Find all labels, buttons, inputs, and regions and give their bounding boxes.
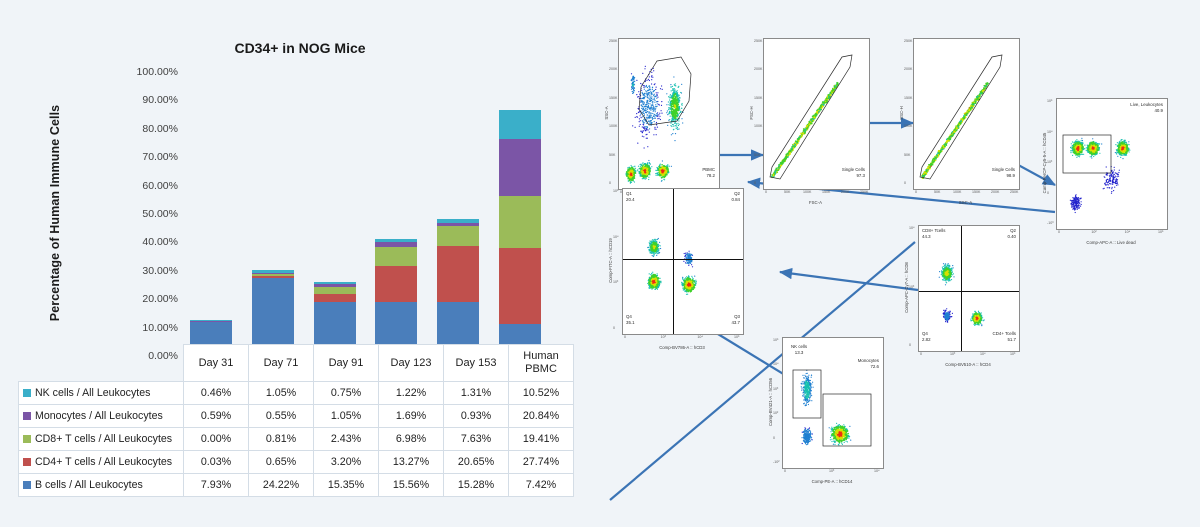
y-axis-ticks: 100.00%90.00%80.00%70.00%60.00%50.00%40.… [118, 66, 178, 350]
y-axis-label: Comp-FITC-A :: hCD19 [608, 188, 613, 333]
stacked-bar[interactable] [499, 110, 541, 344]
table-cell: 10.52% [509, 382, 574, 405]
x-tick-label: 0 [624, 335, 626, 339]
y-tick-label: 50K [904, 153, 910, 157]
table-cell: 7.63% [444, 428, 509, 451]
gate-percent: 43.7 [731, 320, 740, 325]
gate-label-single-cells: Single Cells97.3 [842, 167, 865, 179]
gate-name: Q2 [734, 191, 740, 196]
gate-label-single-cells: Single Cells98.9 [992, 167, 1015, 179]
x-tick-label: 0 [1058, 230, 1060, 234]
legend-row-header: NK cells / All Leukocytes [19, 382, 184, 405]
y-tick-label: 100K [754, 124, 762, 128]
y-axis-tick: 30.00% [142, 265, 178, 277]
bar-segment[interactable] [375, 247, 417, 266]
chart-and-table-panel: CD34+ in NOG Mice Percentage of Human Im… [0, 0, 600, 527]
legend-color-swatch [23, 389, 31, 397]
x-axis-label: Comp-APC-A :: Live dead [1056, 240, 1166, 245]
table-cell: 0.55% [249, 405, 314, 428]
gate-name: Live, Leukocytes [1130, 102, 1163, 107]
x-tick-label: 10⁵ [1158, 230, 1164, 234]
quadrant-label-bottom-right: Q343.7 [731, 314, 740, 326]
y-axis-label: FSC-H [749, 38, 754, 188]
y-tick-label: 10⁴ [1047, 130, 1053, 134]
x-tick-label: 10² [1091, 230, 1096, 234]
y-tick-label: 100K [609, 124, 617, 128]
legend-row-header: B cells / All Leukocytes [19, 474, 184, 497]
x-tick-label: 10³ [661, 335, 666, 339]
table-corner-cell [19, 345, 184, 382]
table-cell: 15.56% [379, 474, 444, 497]
page-title: CD34+ in NOG Mice [170, 40, 430, 56]
x-axis-label: Comp-PE-A :: hCD14 [782, 479, 882, 484]
gate-percent: 51.7 [1007, 337, 1016, 342]
x-axis-label: Comp-BV786-A :: hCD3 [622, 345, 742, 350]
table-column-header: Day 71 [249, 345, 314, 382]
table-cell: 19.41% [509, 428, 574, 451]
x-tick-label: 10⁴ [980, 352, 986, 356]
table-cell: 20.65% [444, 451, 509, 474]
table-row: CD8+ T cells / All Leukocytes0.00%0.81%2… [19, 428, 574, 451]
legend-color-swatch [23, 412, 31, 420]
data-table: Day 31Day 71Day 91Day 123Day 153Human PB… [18, 344, 574, 497]
flow-cytometry-panel: PBMC78.2FSC-ASSC-A050K100K150K200K250K25… [600, 0, 1200, 527]
x-tick-label: 0 [784, 469, 786, 473]
table-cell: 0.03% [184, 451, 249, 474]
y-axis-tick: 90.00% [142, 94, 178, 106]
bar-segment[interactable] [375, 302, 417, 344]
bar-segment[interactable] [375, 266, 417, 302]
y-axis-tick: 40.00% [142, 236, 178, 248]
bar-group[interactable] [427, 219, 489, 344]
table-cell: 20.84% [509, 405, 574, 428]
y-axis-tick: 100.00% [137, 66, 178, 78]
y-axis-label: SSC-A [604, 38, 609, 188]
y-tick-label: 10³ [613, 280, 618, 284]
bar-segment[interactable] [437, 246, 479, 302]
flow-dot-cloud [1057, 99, 1167, 229]
gate-percent: 78.2 [706, 173, 715, 178]
x-tick-label: 0 [765, 190, 767, 194]
y-tick-label: 10⁵ [613, 189, 619, 193]
bar-segment[interactable] [499, 324, 541, 344]
bar-segment[interactable] [499, 248, 541, 323]
table-cell: 0.00% [184, 428, 249, 451]
x-tick-label: 250K [860, 190, 868, 194]
x-tick-label: 100K [953, 190, 961, 194]
gate-name: Q1 [626, 191, 632, 196]
quadrant-label-top-left: CD8+ Tcells44.3 [922, 228, 945, 240]
bar-segment[interactable] [252, 278, 294, 344]
gate-name: Q4 [626, 314, 632, 319]
table-row: CD4+ T cells / All Leukocytes0.03%0.65%3… [19, 451, 574, 474]
quadrant-label-bottom-left: Q42.82 [922, 331, 931, 343]
bar-group[interactable] [489, 110, 551, 344]
table-cell: 2.43% [314, 428, 379, 451]
y-tick-label: 10⁴ [773, 362, 779, 366]
y-tick-label: 150K [754, 96, 762, 100]
gate-percent: 20.4 [626, 197, 635, 202]
quadrant-label-top-right: Q20.84 [731, 191, 740, 203]
x-axis-label: Comp-BV510-A :: hCD4 [918, 362, 1018, 367]
table-cell: 24.22% [249, 474, 314, 497]
y-tick-label: 0 [754, 181, 756, 185]
y-tick-label: 10³ [1047, 160, 1052, 164]
y-tick-label: 0 [609, 181, 611, 185]
arrow-cd4cd8-to-cd3 [780, 272, 918, 290]
y-tick-label: 10⁴ [613, 235, 619, 239]
y-tick-label: 10⁴ [909, 226, 915, 230]
y-tick-label: 0 [909, 343, 911, 347]
x-axis-label: SSC-A [913, 200, 1018, 205]
table-column-header: Day 123 [379, 345, 444, 382]
x-tick-label: 150K [822, 190, 830, 194]
gate-name: Q3 [734, 314, 740, 319]
x-tick-label: 100K [803, 190, 811, 194]
gate-label-live-leukocytes: Live, Leukocytes40.9 [1130, 102, 1163, 114]
table-cell: 15.28% [444, 474, 509, 497]
bar-segment[interactable] [499, 196, 541, 249]
table-cell: 0.81% [249, 428, 314, 451]
gate-name: Q4 [922, 331, 928, 336]
y-axis-title-label: Percentage of Human Immune Cells [48, 88, 62, 338]
gate-percent: 40.9 [1154, 108, 1163, 113]
bar-group[interactable] [242, 270, 304, 344]
table-cell: 6.98% [379, 428, 444, 451]
x-tick-label: 200K [841, 190, 849, 194]
table-column-header: Day 31 [184, 345, 249, 382]
stacked-bar[interactable] [375, 239, 417, 344]
y-axis-tick: 10.00% [142, 322, 178, 334]
bar-segment[interactable] [499, 139, 541, 196]
y-tick-label: -10³ [1047, 221, 1053, 225]
gate-label-pbmc: PBMC78.2 [702, 167, 715, 179]
stacked-bar[interactable] [190, 320, 232, 344]
quadrant-vertical-line [961, 226, 962, 351]
quadrant-label-bottom-right: CD4+ Tcells51.7 [993, 331, 1016, 343]
y-tick-label: 150K [904, 96, 912, 100]
stacked-bar[interactable] [252, 270, 294, 344]
table-cell: 1.05% [249, 382, 314, 405]
table-column-header: Day 153 [444, 345, 509, 382]
gate-percent: 98.9 [1006, 173, 1015, 178]
table-column-header: Day 91 [314, 345, 379, 382]
gate-percent: 35.1 [626, 320, 635, 325]
y-axis-tick: 60.00% [142, 180, 178, 192]
table-row: B cells / All Leukocytes7.93%24.22%15.35… [19, 474, 574, 497]
gate-name: Single Cells [842, 167, 865, 172]
x-tick-label: 250K [1010, 190, 1018, 194]
bar-segment[interactable] [437, 302, 479, 344]
y-tick-label: 250K [609, 39, 617, 43]
quadrant-label-top-right: Q20.40 [1007, 228, 1016, 240]
flow-plot-singlets-fsc[interactable]: Single Cells97.3 [763, 38, 870, 190]
gate-label-monocytes: Monocytes72.6 [858, 358, 879, 370]
y-tick-label: 100K [904, 124, 912, 128]
bar-group[interactable] [304, 282, 366, 344]
y-axis-tick: 80.00% [142, 123, 178, 135]
gate-name: CD4+ Tcells [993, 331, 1016, 336]
y-tick-label: 0 [904, 181, 906, 185]
legend-row-header: CD8+ T cells / All Leukocytes [19, 428, 184, 451]
y-tick-label: 200K [904, 67, 912, 71]
gate-name: Q2 [1010, 228, 1016, 233]
x-tick-label: 10³ [829, 469, 834, 473]
legend-color-swatch [23, 458, 31, 466]
x-axis-label: FSC-A [763, 200, 868, 205]
y-axis-title: Percentage of Human Immune Cells [48, 0, 70, 88]
gate-percent: 0.40 [1007, 234, 1016, 239]
table-cell: 27.74% [509, 451, 574, 474]
table-cell: 3.20% [314, 451, 379, 474]
gate-percent: 97.3 [856, 173, 865, 178]
table-cell: 7.93% [184, 474, 249, 497]
gate-percent: 2.82 [922, 337, 931, 342]
table-body: NK cells / All Leukocytes0.46%1.05%0.75%… [19, 382, 574, 497]
flow-plot-live-leukocytes[interactable]: Live, Leukocytes40.9 [1056, 98, 1168, 230]
x-tick-label: 10⁴ [874, 469, 880, 473]
table-cell: 0.93% [444, 405, 509, 428]
x-tick-label: 10⁴ [1125, 230, 1131, 234]
gate-label-nk-cells: NK cells13.3 [791, 344, 807, 356]
table-cell: 0.75% [314, 382, 379, 405]
y-tick-label: 10² [773, 411, 778, 415]
table-cell: 1.22% [379, 382, 444, 405]
legend-row-header: Monocytes / All Leukocytes [19, 405, 184, 428]
table-cell: 7.42% [509, 474, 574, 497]
bar-segment[interactable] [190, 322, 232, 344]
gate-name: Monocytes [858, 358, 879, 363]
legend-color-swatch [23, 435, 31, 443]
stacked-bar-plot-area [180, 72, 551, 344]
y-axis-tick: 70.00% [142, 151, 178, 163]
table-cell: 1.05% [314, 405, 379, 428]
quadrant-horizontal-line [919, 291, 1019, 292]
y-tick-label: 200K [754, 67, 762, 71]
y-tick-label: 0 [773, 436, 775, 440]
x-tick-label: 10³ [950, 352, 955, 356]
x-tick-label: 10⁴ [697, 335, 703, 339]
data-table-wrapper: Day 31Day 71Day 91Day 123Day 153Human PB… [18, 344, 573, 497]
gate-name: Single Cells [992, 167, 1015, 172]
table-cell: 1.31% [444, 382, 509, 405]
y-tick-label: 10³ [909, 285, 914, 289]
y-tick-label: 250K [904, 39, 912, 43]
y-tick-label: 0 [1047, 191, 1049, 195]
table-column-header: Human PBMC [509, 345, 574, 382]
bar-segment[interactable] [314, 287, 356, 294]
flow-plot-nk-monocytes[interactable]: NK cells13.3Monocytes72.6 [782, 337, 884, 469]
y-axis-tick: 20.00% [142, 293, 178, 305]
gate-percent: 13.3 [795, 350, 804, 355]
gate-percent: 44.3 [922, 234, 931, 239]
y-axis-label: SSC-H [899, 38, 904, 188]
x-tick-label: 50K [784, 190, 790, 194]
x-tick-label: 10⁵ [734, 335, 740, 339]
flow-plot-pbmc[interactable]: PBMC78.2 [618, 38, 720, 190]
y-tick-label: 10³ [773, 387, 778, 391]
x-tick-label: 0 [920, 352, 922, 356]
table-cell: 15.35% [314, 474, 379, 497]
gate-percent: 0.84 [731, 197, 740, 202]
y-tick-label: 50K [754, 153, 760, 157]
x-tick-label: 200K [991, 190, 999, 194]
gate-percent: 72.6 [870, 364, 879, 369]
y-tick-label: -10² [773, 460, 779, 464]
flow-plot-cd19-cd3[interactable]: Q120.4Q20.84Q435.1Q343.7 [622, 188, 744, 335]
table-cell: 0.46% [184, 382, 249, 405]
gate-name: PBMC [702, 167, 715, 172]
table-header-row: Day 31Day 71Day 91Day 123Day 153Human PB… [19, 345, 574, 382]
bar-segment[interactable] [437, 226, 479, 247]
rectangle-gate [1063, 135, 1111, 173]
table-cell: 0.65% [249, 451, 314, 474]
x-tick-label: 10⁵ [1010, 352, 1016, 356]
gate-name: CD8+ Tcells [922, 228, 945, 233]
stacked-bar[interactable] [314, 282, 356, 344]
x-tick-label: 50K [934, 190, 940, 194]
y-tick-label: 250K [754, 39, 762, 43]
table-cell: 1.69% [379, 405, 444, 428]
gate-name: NK cells [791, 344, 807, 349]
quadrant-horizontal-line [623, 259, 743, 260]
bar-segment[interactable] [314, 294, 356, 303]
stacked-bar[interactable] [437, 219, 479, 344]
bar-segment[interactable] [314, 302, 356, 344]
y-axis-tick: 50.00% [142, 208, 178, 220]
flow-plot-singlets-ssc[interactable]: Single Cells98.9 [913, 38, 1020, 190]
y-tick-label: 50K [609, 153, 615, 157]
quadrant-vertical-line [673, 189, 674, 334]
table-row: Monocytes / All Leukocytes0.59%0.55%1.05… [19, 405, 574, 428]
y-tick-label: 10⁵ [773, 338, 779, 342]
flow-plot-cd4-cd8[interactable]: CD8+ Tcells44.3Q20.40Q42.82CD4+ Tcells51… [918, 225, 1020, 352]
table-cell: 13.27% [379, 451, 444, 474]
table-row: NK cells / All Leukocytes0.46%1.05%0.75%… [19, 382, 574, 405]
flow-dot-cloud [623, 189, 743, 334]
y-tick-label: 0 [613, 326, 615, 330]
y-tick-label: 10⁵ [1047, 99, 1053, 103]
legend-color-swatch [23, 481, 31, 489]
y-tick-label: 200K [609, 67, 617, 71]
bar-group[interactable] [180, 320, 242, 344]
y-tick-label: 150K [609, 96, 617, 100]
bar-group[interactable] [366, 239, 428, 344]
quadrant-label-top-left: Q120.4 [626, 191, 635, 203]
x-tick-label: 150K [972, 190, 980, 194]
x-tick-label: 0 [915, 190, 917, 194]
y-axis-label: Comp-BV421-A :: hCD56 [768, 337, 773, 467]
quadrant-label-bottom-left: Q435.1 [626, 314, 635, 326]
legend-row-header: CD4+ T cells / All Leukocytes [19, 451, 184, 474]
table-cell: 0.59% [184, 405, 249, 428]
bar-segment[interactable] [499, 110, 541, 139]
